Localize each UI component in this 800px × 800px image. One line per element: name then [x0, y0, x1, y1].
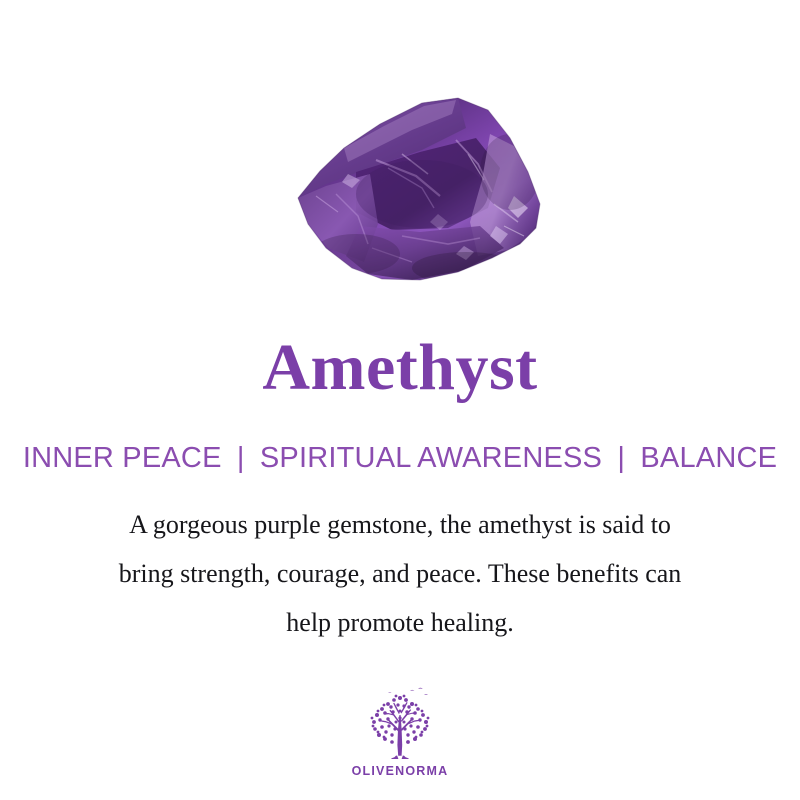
- page-title: Amethyst: [0, 332, 800, 404]
- description-line-3: help promote healing.: [55, 598, 745, 647]
- stone-shade-right: [480, 134, 540, 210]
- brand-wordmark: OLIVENORMA: [0, 764, 800, 778]
- stone-shade-center: [356, 160, 488, 228]
- keyword-separator-1: |: [230, 442, 252, 474]
- description-line-1: A gorgeous purple gemstone, the amethyst…: [55, 500, 745, 549]
- birds-icon: [388, 688, 428, 695]
- description-line-2: bring strength, courage, and peace. Thes…: [55, 549, 745, 598]
- keyword-separator-2: |: [610, 442, 632, 474]
- brand-logo: OLIVENORMA: [0, 685, 800, 778]
- keyword-line: INNER PEACE | SPIRITUAL AWARENESS | BALA…: [0, 440, 800, 476]
- amethyst-crystal-icon: [252, 76, 548, 288]
- keyword-balance: BALANCE: [640, 442, 777, 474]
- keyword-spiritual-awareness: SPIRITUAL AWARENESS: [260, 442, 602, 474]
- stone-shade-bottom: [412, 252, 520, 284]
- description-text: A gorgeous purple gemstone, the amethyst…: [55, 500, 745, 647]
- amethyst-stone-image: [252, 76, 548, 288]
- keyword-inner-peace: INNER PEACE: [23, 442, 222, 474]
- tree-of-life-icon: [358, 685, 442, 761]
- stone-shade-bottom-left: [312, 234, 400, 274]
- amethyst-product-card: Amethyst INNER PEACE | SPIRITUAL AWARENE…: [0, 0, 800, 800]
- hero-image-area: [0, 60, 800, 310]
